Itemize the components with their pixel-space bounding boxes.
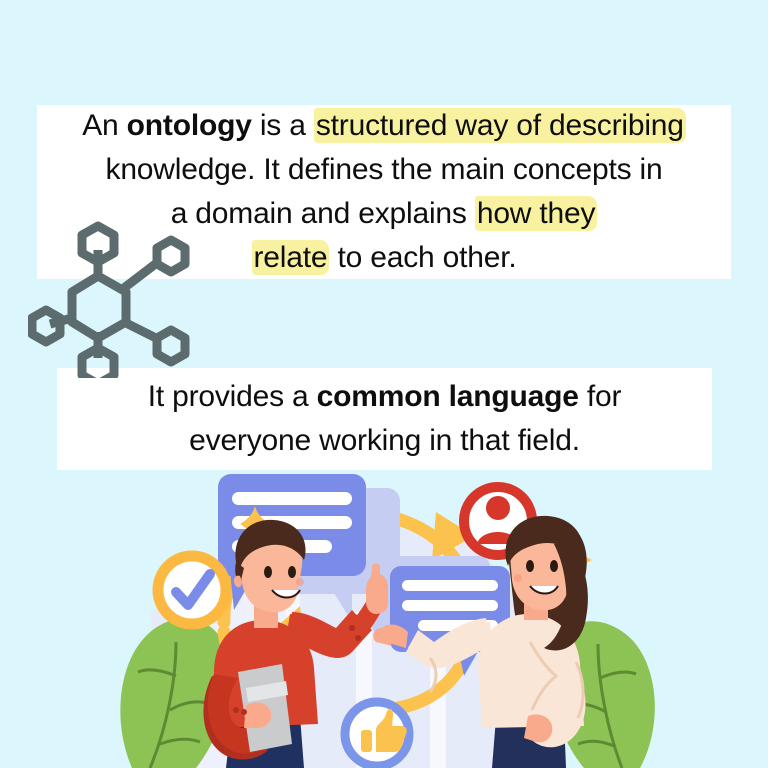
definition-line-3: a domain and explains how they <box>171 192 598 236</box>
infographic-canvas: An ontology is a structured way of descr… <box>0 0 768 768</box>
text-plain: An <box>82 109 126 142</box>
text-plain: to each other. <box>329 241 516 274</box>
definition-line-4: relate to each other. <box>252 236 517 280</box>
text-plain: a domain and explains <box>171 197 475 230</box>
common-language-line-2: everyone working in that field. <box>189 419 580 463</box>
molecule-network-icon <box>28 218 198 378</box>
definition-line-1: An ontology is a structured way of descr… <box>82 104 686 148</box>
definition-line-2: knowledge. It defines the main concepts … <box>106 148 663 192</box>
text-bold-ontology: ontology <box>127 109 252 142</box>
text-plain: for <box>579 380 622 413</box>
text-plain: It provides a <box>148 380 317 413</box>
highlight-how-they: how they <box>475 196 597 231</box>
highlight-structured-way: structured way of describing <box>314 108 686 143</box>
highlight-relate: relate <box>252 240 330 275</box>
thumbs-up-badge-icon <box>345 702 409 766</box>
common-language-card: It provides a common language for everyo… <box>57 368 712 470</box>
illustration-artwork <box>0 462 768 768</box>
common-language-line-1: It provides a common language for <box>148 375 622 419</box>
text-bold-common-language: common language <box>317 380 579 413</box>
check-badge-icon <box>158 556 226 624</box>
text-plain: is a <box>252 109 314 142</box>
